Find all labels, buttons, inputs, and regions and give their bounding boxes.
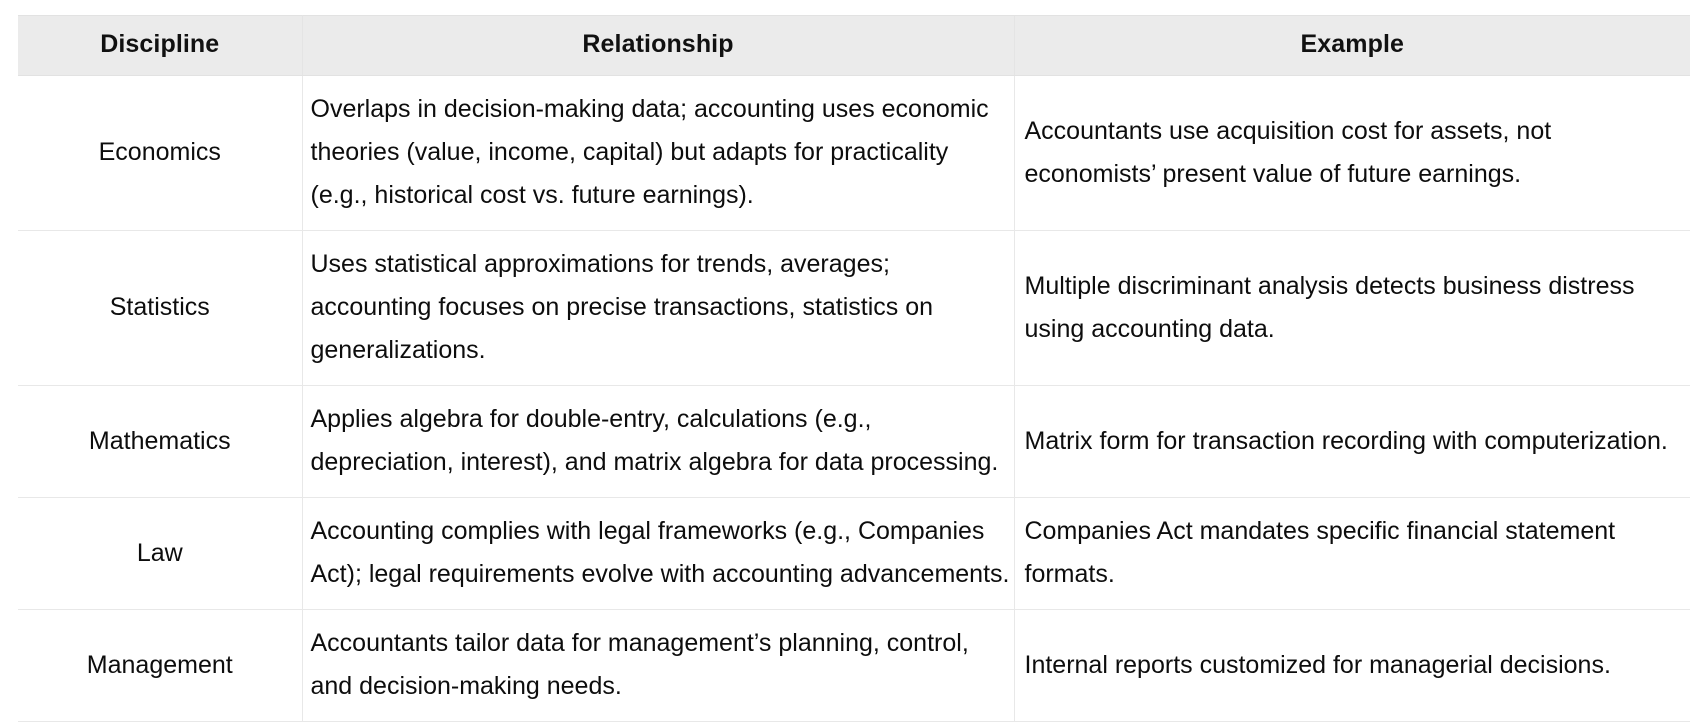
- cell-relationship: Accountants tailor data for management’s…: [302, 610, 1014, 722]
- column-header-discipline: Discipline: [18, 16, 302, 76]
- table-row: Statistics Uses statistical approximatio…: [18, 231, 1690, 386]
- table-header: Discipline Relationship Example: [18, 16, 1690, 76]
- column-header-example: Example: [1014, 16, 1690, 76]
- table-row: Economics Overlaps in decision-making da…: [18, 76, 1690, 231]
- column-header-relationship: Relationship: [302, 16, 1014, 76]
- table-body: Economics Overlaps in decision-making da…: [18, 76, 1690, 722]
- cell-discipline: Statistics: [18, 231, 302, 386]
- discipline-relationship-table: Discipline Relationship Example Economic…: [18, 15, 1690, 722]
- cell-example: Multiple discriminant analysis detects b…: [1014, 231, 1690, 386]
- cell-relationship: Accounting complies with legal framework…: [302, 498, 1014, 610]
- cell-relationship: Applies algebra for double-entry, calcul…: [302, 386, 1014, 498]
- cell-discipline: Mathematics: [18, 386, 302, 498]
- cell-discipline: Management: [18, 610, 302, 722]
- cell-relationship: Overlaps in decision-making data; accoun…: [302, 76, 1014, 231]
- cell-relationship: Uses statistical approximations for tren…: [302, 231, 1014, 386]
- table-row: Management Accountants tailor data for m…: [18, 610, 1690, 722]
- table-row: Mathematics Applies algebra for double-e…: [18, 386, 1690, 498]
- cell-discipline: Law: [18, 498, 302, 610]
- table-row: Law Accounting complies with legal frame…: [18, 498, 1690, 610]
- cell-discipline: Economics: [18, 76, 302, 231]
- cell-example: Matrix form for transaction recording wi…: [1014, 386, 1690, 498]
- table-page: Discipline Relationship Example Economic…: [0, 0, 1706, 635]
- table-header-row: Discipline Relationship Example: [18, 16, 1690, 76]
- cell-example: Internal reports customized for manageri…: [1014, 610, 1690, 722]
- cell-example: Accountants use acquisition cost for ass…: [1014, 76, 1690, 231]
- cell-example: Companies Act mandates specific financia…: [1014, 498, 1690, 610]
